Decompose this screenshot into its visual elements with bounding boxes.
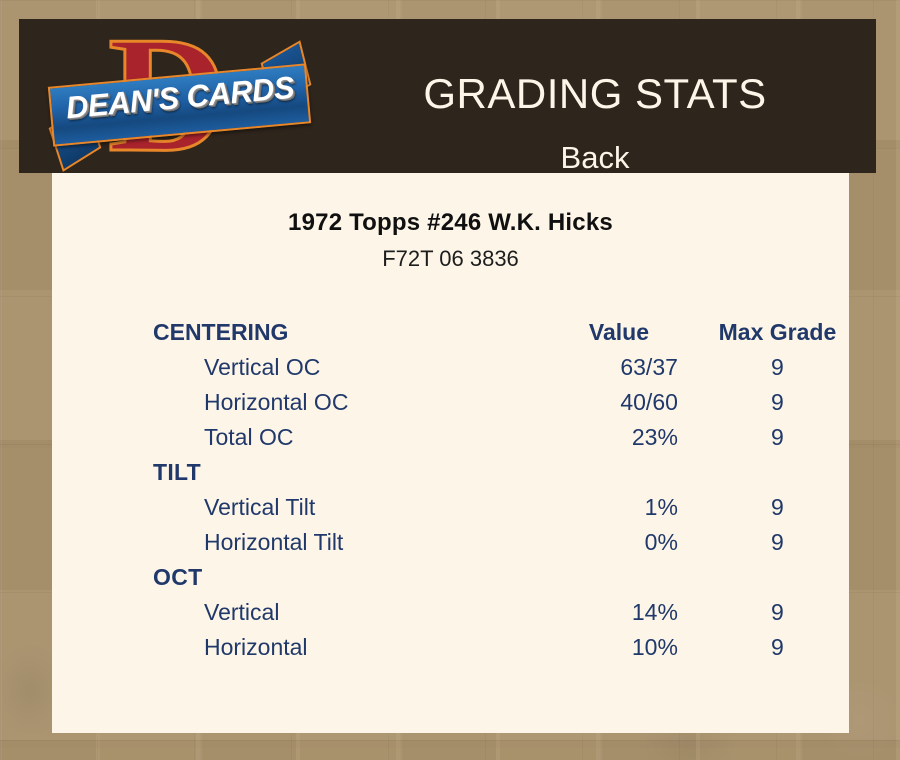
row-max-grade — [710, 560, 845, 595]
row-label: OCT — [153, 560, 528, 595]
page-title: GRADING STATS — [305, 71, 885, 117]
row-max-grade: 9 — [710, 385, 845, 420]
table-row: Vertical14%9 — [153, 595, 845, 630]
table-row: Total OC23%9 — [153, 420, 845, 455]
card-serial-number: F72T 06 3836 — [52, 246, 849, 272]
table-section-row: TILT — [153, 455, 845, 490]
row-label: Horizontal — [153, 630, 528, 665]
row-value: 10% — [528, 630, 710, 665]
table-row: Horizontal10%9 — [153, 630, 845, 665]
content-panel: 1972 Topps #246 W.K. Hicks F72T 06 3836 … — [52, 173, 849, 733]
card-title: 1972 Topps #246 W.K. Hicks — [52, 209, 849, 237]
row-max-grade: 9 — [710, 350, 845, 385]
row-max-grade: 9 — [710, 630, 845, 665]
row-label: Total OC — [153, 420, 528, 455]
row-label: Vertical Tilt — [153, 490, 528, 525]
row-max-grade — [710, 455, 845, 490]
row-max-grade: 9 — [710, 490, 845, 525]
header-bar: D DEAN'S CARDS GRADING STATS Back — [19, 19, 876, 173]
row-value: 23% — [528, 420, 710, 455]
row-value: 1% — [528, 490, 710, 525]
row-value: 0% — [528, 525, 710, 560]
table-row: Horizontal OC40/609 — [153, 385, 845, 420]
column-header-value: Value — [528, 315, 710, 350]
deans-cards-logo: D DEAN'S CARDS — [50, 27, 305, 167]
page-subtitle: Back — [305, 141, 885, 175]
row-max-grade: 9 — [710, 595, 845, 630]
table-row: Horizontal Tilt0%9 — [153, 525, 845, 560]
row-value: 63/37 — [528, 350, 710, 385]
table-section-row: OCT — [153, 560, 845, 595]
row-value — [528, 560, 710, 595]
grading-stats-table: CENTERING Value Max Grade Vertical OC63/… — [153, 315, 845, 665]
row-max-grade: 9 — [710, 525, 845, 560]
row-value: 14% — [528, 595, 710, 630]
row-value: 40/60 — [528, 385, 710, 420]
row-value — [528, 455, 710, 490]
row-label: Vertical — [153, 595, 528, 630]
row-label: Horizontal OC — [153, 385, 528, 420]
table-row: Vertical Tilt1%9 — [153, 490, 845, 525]
row-label: Horizontal Tilt — [153, 525, 528, 560]
column-header-max-grade: Max Grade — [710, 315, 845, 350]
row-label: Vertical OC — [153, 350, 528, 385]
table-header-row: CENTERING Value Max Grade — [153, 315, 845, 350]
table-header: CENTERING Value Max Grade — [153, 315, 845, 350]
table-body: Vertical OC63/379Horizontal OC40/609Tota… — [153, 350, 845, 665]
row-label: TILT — [153, 455, 528, 490]
column-header-centering: CENTERING — [153, 315, 528, 350]
table-row: Vertical OC63/379 — [153, 350, 845, 385]
row-max-grade: 9 — [710, 420, 845, 455]
